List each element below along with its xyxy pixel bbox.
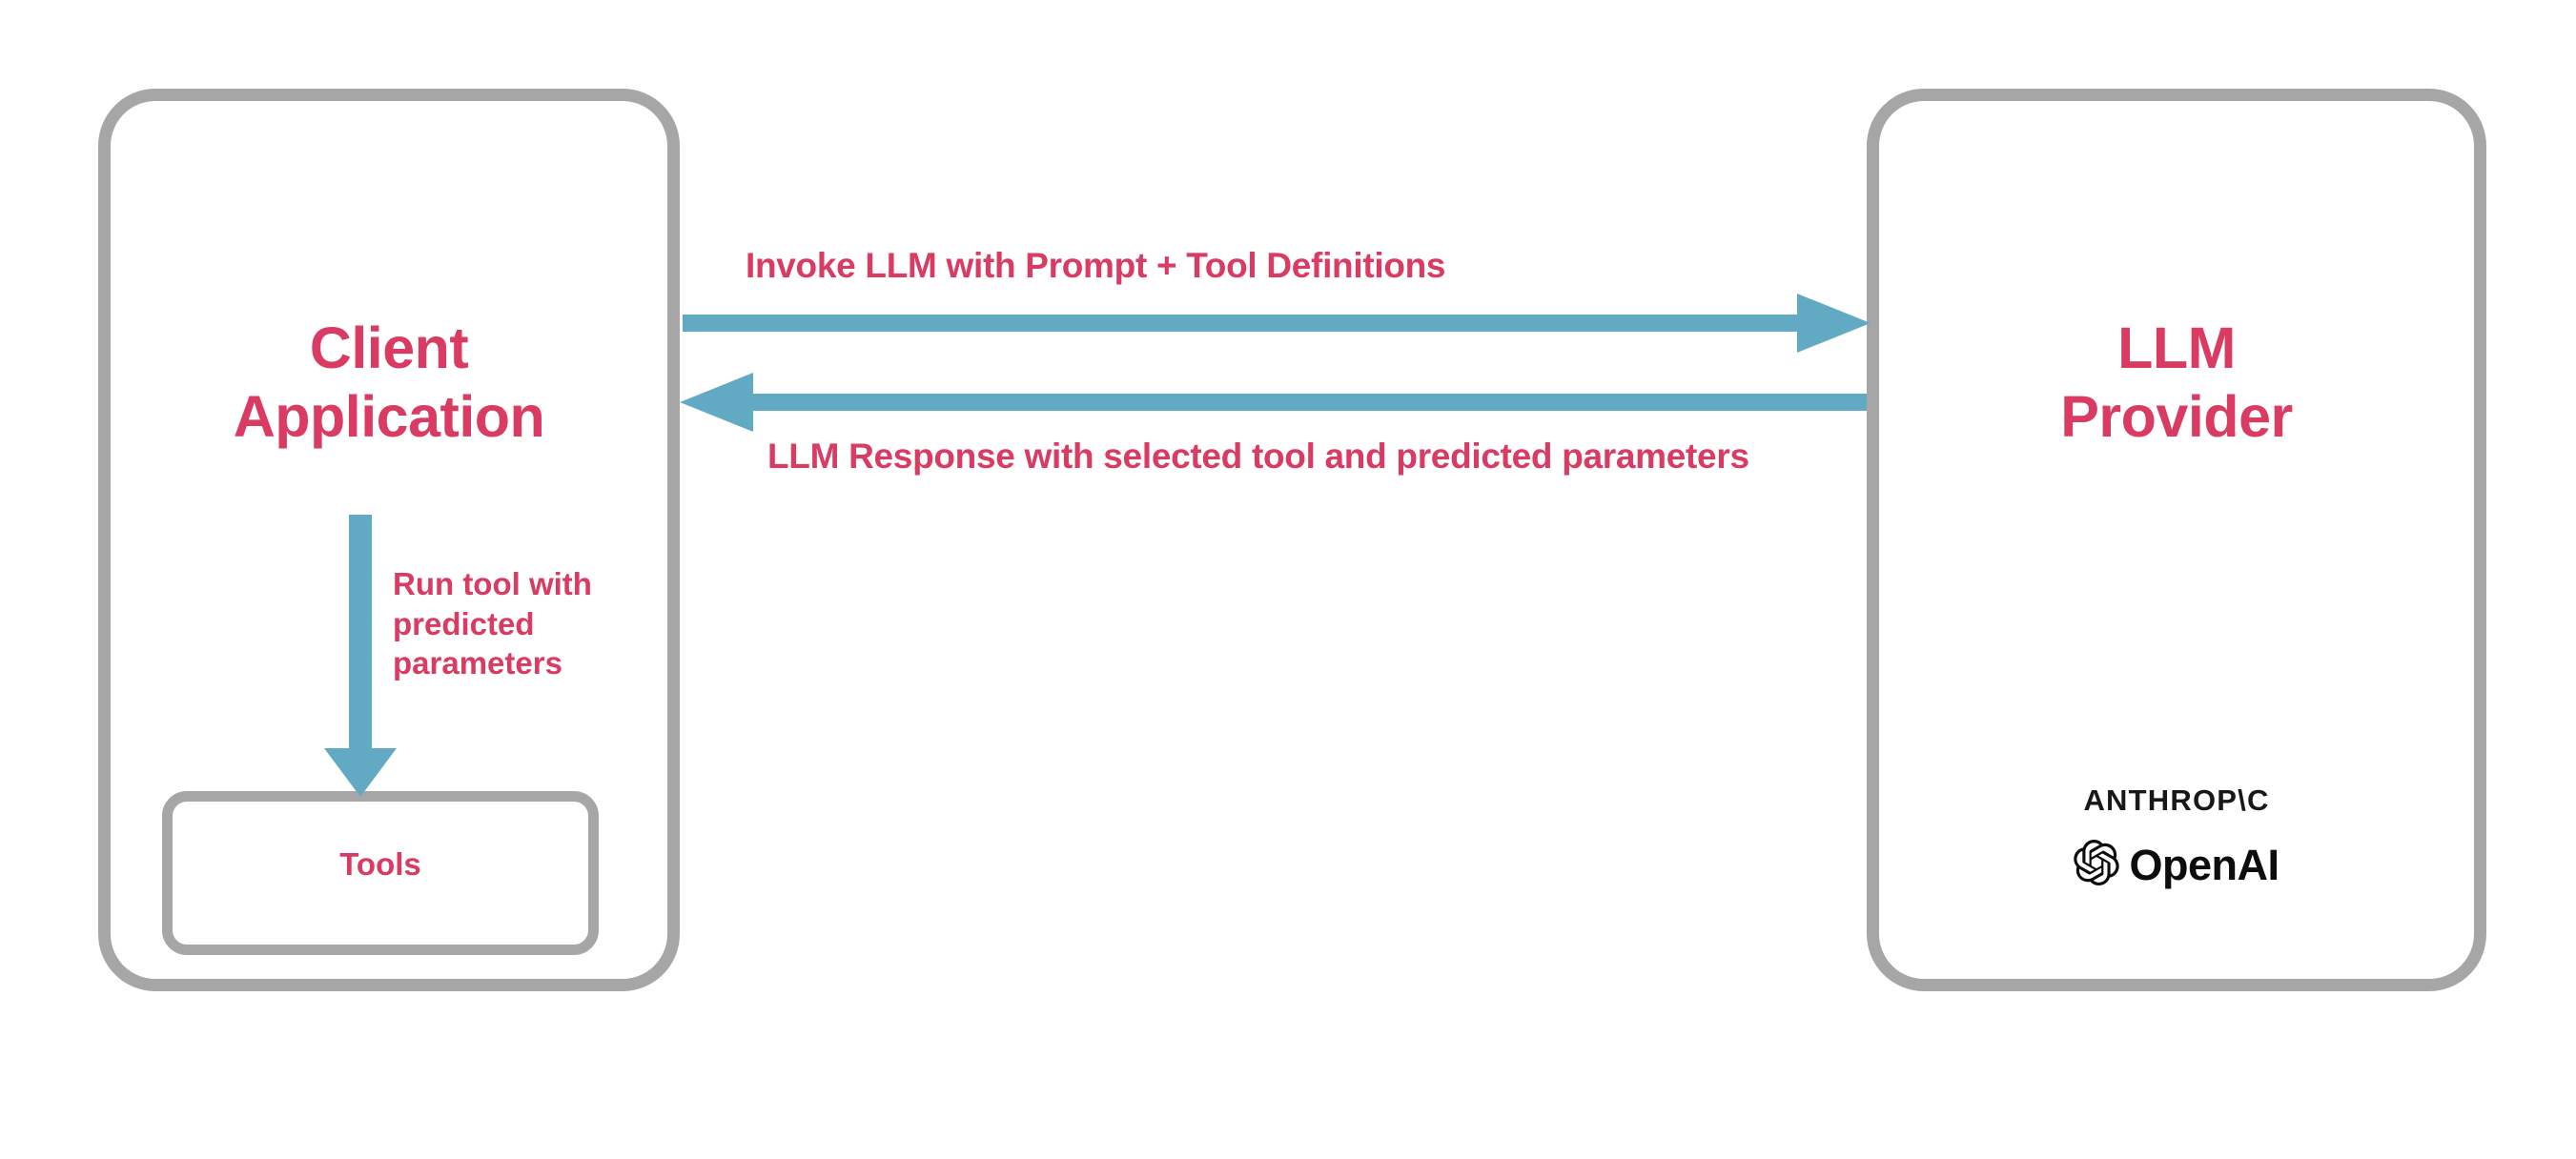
openai-wordmark: OpenAI [2129,844,2279,886]
response-arrow-label: LLM Response with selected tool and pred… [767,437,1749,477]
client-application-label: Client Application [98,315,680,452]
diagram-canvas: Client Application Tools LLM Provider AN… [0,0,2576,1159]
anthropic-logo: ANTHROP\C [1867,785,2486,815]
invoke-arrow-label: Invoke LLM with Prompt + Tool Definition… [746,246,1445,286]
tools-label: Tools [162,846,599,883]
openai-mark-icon [2074,840,2119,890]
invoke-arrow [683,294,1871,353]
vendor-logo-group: ANTHROP\C OpenAI [1867,785,2486,890]
openai-logo: OpenAI [1867,840,2486,890]
llm-provider-label: LLM Provider [1867,315,2486,452]
response-arrow [680,373,1867,432]
run-tool-arrow-label: Run tool with predicted parameters [393,564,669,683]
